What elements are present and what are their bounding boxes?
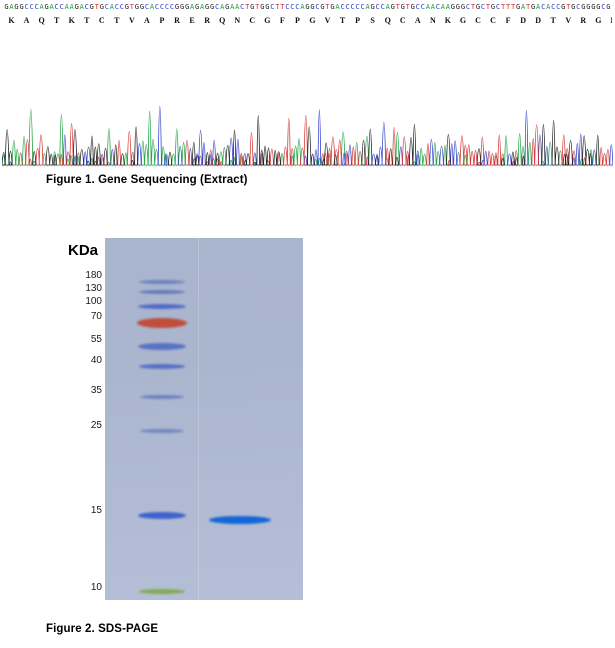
kda-tick-10: 10 [58, 582, 102, 593]
sds-page-gel-image [105, 238, 303, 600]
kda-tick-25: 25 [58, 420, 102, 431]
figure-sds-page: KDa 18013010070554035251510 Figure 2. SD… [0, 230, 615, 648]
figure2-caption: Figure 2. SDS-PAGE [46, 623, 158, 635]
figure1-caption: Figure 1. Gene Sequencing (Extract) [46, 174, 248, 186]
ladder-band-100kda [138, 304, 186, 309]
kda-tick-180: 180 [58, 270, 102, 281]
kda-tick-55: 55 [58, 334, 102, 345]
sanger-chromatogram-trace [2, 52, 613, 167]
ladder-band-130kda [139, 290, 185, 294]
figure-gene-sequencing: GAGGCCCAGACCAAGACGTGCACCGTGGCACCCCGGGAGA… [0, 0, 615, 196]
molecular-weight-axis: 18013010070554035251510 [54, 230, 102, 610]
kda-tick-70: 70 [58, 311, 102, 322]
ladder-band-10kda [139, 589, 185, 594]
ladder-band-15kda [138, 512, 186, 519]
kda-tick-130: 130 [58, 283, 102, 294]
dna-base-sequence-strip: GAGGCCCAGACCAAGACGTGCACCGTGGCACCCCGGGAGA… [4, 2, 612, 13]
ladder-band-40kda [139, 364, 185, 369]
ladder-band-180kda [139, 280, 185, 284]
kda-tick-15: 15 [58, 505, 102, 516]
ladder-band-35kda [140, 395, 184, 399]
amino-acid-sequence-strip: KAQTKTCTVAPRERQNCGFPGVTPSQCANKGCCFDDTVRG… [4, 15, 612, 27]
sample-band-14kda [209, 516, 271, 524]
gel-lane-divider [198, 238, 199, 600]
ladder-band-70kda [137, 318, 187, 328]
ladder-band-25kda [140, 429, 184, 433]
kda-tick-100: 100 [58, 296, 102, 307]
kda-tick-40: 40 [58, 355, 102, 366]
kda-tick-35: 35 [58, 385, 102, 396]
ladder-band-55kda [138, 343, 186, 350]
